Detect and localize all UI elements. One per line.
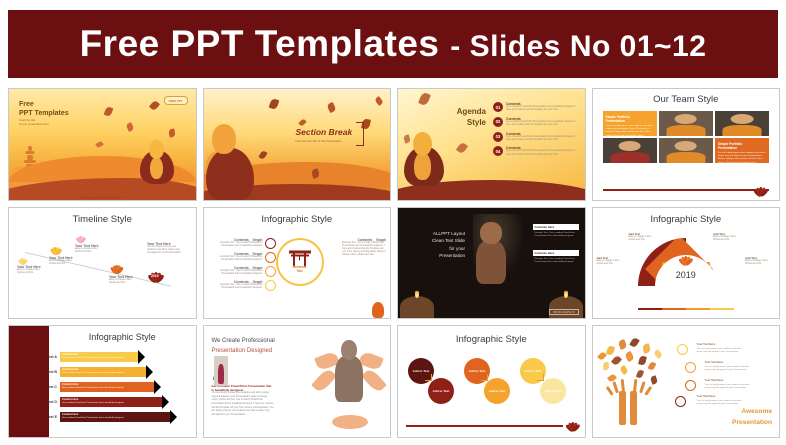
timeline-node-year: 2019: [151, 274, 159, 278]
infographic-list-item[interactable]: Contents _ Graph Example Text : Get a mo…: [212, 238, 276, 249]
slide-title: Infographic Style: [398, 334, 585, 345]
step-node-icon: [675, 396, 686, 407]
cover-title-line1: Free: [19, 101, 69, 110]
bullet-icon: [265, 238, 276, 249]
center-circle-label: Contents Title: [293, 267, 307, 275]
arrow-bar: Content Here Get a modern PowerPoint Pre…: [60, 412, 170, 422]
monk-figure-icon: [372, 302, 384, 318]
node-body: You can simply impress your audience and…: [705, 384, 751, 390]
agenda-item-list: 01 Contents Get a modern PowerPoint Pres…: [493, 102, 581, 161]
leaf-icon: [104, 106, 114, 117]
lotus-icon: [753, 185, 769, 196]
bullet-icon: [265, 266, 276, 277]
team-photo[interactable]: [659, 138, 713, 163]
circle-label: Add to Text: [525, 369, 542, 373]
callout-body: Easy to change colors, photos and Text.: [745, 260, 775, 266]
gauge-callout[interactable]: Add Text Easy to change colors, photos a…: [745, 256, 775, 266]
buddha-statue-image: [332, 340, 366, 402]
team-photo[interactable]: [715, 111, 769, 136]
arrow-row[interactable]: Text C Content Here Get a modern PowerPo…: [31, 382, 154, 392]
infographic-list-item[interactable]: Contents _ Graph Example Text : Get a mo…: [212, 266, 276, 277]
buddha-statue-image: [474, 222, 508, 284]
body-text: You can simply impress your audience and…: [212, 392, 274, 417]
awesome-title-line1: Awesome: [741, 408, 772, 415]
agenda-item-body: Get a modern PowerPoint Presentation tha…: [506, 136, 581, 142]
bracket-decoration: [356, 122, 364, 146]
portfolio-card-heading: Simple Portfolio Presentation: [718, 142, 766, 151]
portfolio-card[interactable]: Simple Portfolio Presentation You can si…: [603, 111, 657, 136]
arrow-label: Text E: [31, 415, 57, 419]
node-heading: Your Text Here: [697, 395, 716, 398]
gauge-callout[interactable]: Add Text Easy to change colors, photos a…: [597, 256, 627, 266]
agenda-item[interactable]: 02 Contents Get a modern PowerPoint Pres…: [493, 117, 581, 127]
node-heading: Your Text Here: [697, 343, 716, 346]
candle-icon: [400, 296, 434, 318]
infographic-right-item[interactable]: Contents _ Graph Example Text : Get a mo…: [342, 238, 386, 258]
agenda-item-number: 02: [493, 117, 503, 127]
item-body: Example Text : Get a modern PowerPoint P…: [212, 270, 263, 276]
slide-title: Infographic Style: [593, 214, 780, 225]
timeline-node[interactable]: Your Text Here Easy to change colors, ph…: [109, 264, 135, 285]
timeline-node[interactable]: Your Text Here Easy to change colors, ph…: [17, 256, 43, 275]
agenda-item-number: 03: [493, 132, 503, 142]
leaf-icon: [126, 122, 135, 132]
portfolio-heading-line2: Presentation: [606, 119, 625, 123]
callout-body: Easy to change colors, photos and Text.: [629, 236, 659, 242]
lotus-icon: [49, 246, 62, 255]
arrow-heading: Content Here: [62, 413, 78, 416]
leaf-icon: [326, 102, 336, 113]
circle-label: Add to Text: [413, 369, 430, 373]
cover-title-line2: PPT Templates: [19, 110, 69, 119]
arrow-heading: Content Here: [62, 383, 78, 386]
node-heading: Your Text Here: [705, 379, 724, 382]
bracket-decoration: [537, 374, 544, 381]
agenda-title: Agenda Style: [438, 107, 486, 129]
section-break-subtitle: Insert the Sub Title of Your Presentatio…: [296, 140, 342, 143]
agenda-item[interactable]: 01 Contents Get a modern PowerPoint Pres…: [493, 102, 581, 112]
arrow-label: Text B: [31, 370, 57, 374]
lotus-icon: [75, 235, 86, 243]
timeline-node-body: Easy to change colors, photos and Text.: [17, 269, 43, 275]
arrow-heading: Content Here: [62, 353, 78, 356]
gauge-callout[interactable]: Add Text Easy to change colors, photos a…: [713, 232, 743, 242]
lotus-icon: [565, 420, 581, 431]
arrow-body: Get a modern PowerPoint Presentation tha…: [62, 387, 124, 389]
item-body: Example Text : Get a modern PowerPoint P…: [212, 242, 263, 248]
cover-footer-url: www.free-powerpoint-templates-design.com: [81, 197, 124, 199]
slide-thumbnail-timeline[interactable]: Timeline Style Your Text Here Easy to ch…: [8, 207, 197, 320]
leaf-icon: [149, 100, 160, 111]
infographic-list-item[interactable]: Contents _ Graph Example Text : Get a mo…: [212, 252, 276, 263]
slide-title: Timeline Style: [9, 214, 196, 225]
title-line1: ALLPPT Layout: [407, 230, 465, 238]
slide-thumbnail-infographic-arrows[interactable]: Infographic Style Text A Content Here Ge…: [8, 325, 197, 438]
center-label-line2: Title: [296, 269, 303, 273]
team-photo[interactable]: [603, 138, 657, 163]
arrow-bar: Content Here Get a modern PowerPoint Pre…: [60, 367, 146, 377]
agenda-item-body: Get a modern PowerPoint Presentation tha…: [506, 150, 581, 156]
lotus-icon: [109, 264, 124, 274]
slide-thumbnail-we-create[interactable]: We Create Professional Presentation Desi…: [203, 325, 392, 438]
arrow-body: Get a modern PowerPoint Presentation tha…: [62, 402, 124, 404]
slide-thumbnail-infographic-circles[interactable]: Infographic Style Add to Text Add to Tex…: [397, 325, 586, 438]
timeline-node-body: Easy to change colors, photos and Text.: [75, 248, 101, 254]
arrow-row[interactable]: Text A Content Here Get a modern PowerPo…: [31, 352, 138, 362]
monk-silhouette: [140, 140, 174, 184]
arrow-row[interactable]: Text E Content Here Get a modern PowerPo…: [31, 412, 170, 422]
contents-box-body: Example Text : Get a modern PowerPoint P…: [533, 256, 579, 265]
contents-box[interactable]: Contents Here Example Text : Get a moder…: [533, 224, 579, 240]
slide-title: Infographic Style: [49, 332, 196, 342]
header-banner: Free PPT Templates - Slides No 01~12: [8, 10, 778, 78]
timeline-node-body: Easy to change colors, photos and Text.: [49, 260, 75, 266]
arrow-label: Text A: [31, 355, 57, 359]
circle-node[interactable]: Add to Text: [428, 378, 454, 404]
timeline-node[interactable]: Your Text Here Easy to change colors, ph…: [49, 246, 75, 266]
leaf-icon: [456, 142, 468, 155]
bracket-decoration: [425, 374, 432, 381]
contents-box-heading: Contents Here: [533, 224, 579, 231]
portfolio-card[interactable]: Simple Portfolio Presentation You can si…: [715, 138, 769, 163]
slide-thumbnail-infographic-gauge[interactable]: Infographic Style Add Contents Add Conte…: [592, 207, 781, 320]
arrow-row[interactable]: Text B Content Here Get a modern PowerPo…: [31, 367, 146, 377]
slide-thumbnail-awesome-presentation[interactable]: Your Text Here You can simply impress yo…: [592, 325, 781, 438]
gauge-callout[interactable]: Add Text Easy to change colors, photos a…: [629, 232, 659, 242]
flame-icon: [564, 289, 568, 298]
cover-subtitle: Insert the title of your presentation he…: [19, 119, 49, 127]
node-body: You can simply impress your audience and…: [705, 366, 751, 372]
page-title: Free PPT Templates - Slides No 01~12: [80, 23, 707, 65]
leaf-icon: [374, 96, 384, 106]
step-node-icon: [677, 344, 688, 355]
arrow-body: Get a modern PowerPoint Presentation tha…: [62, 372, 124, 374]
lotus-icon: [678, 254, 694, 265]
portfolio-heading-line2: Presentation: [718, 146, 737, 150]
agenda-item[interactable]: 03 Contents Get a modern PowerPoint Pres…: [493, 132, 581, 142]
infographic-badge: INFOGRAPHIC: [549, 309, 578, 316]
slide-grid: Free PPT Templates Insert the title of y…: [8, 88, 780, 438]
arrow-heading: Content Here: [62, 368, 78, 371]
agenda-item-body: Get a modern PowerPoint Presentation tha…: [506, 106, 581, 112]
bullet-icon: [265, 280, 276, 291]
slide-thumbnail-agenda[interactable]: Agenda Style 01 Contents Get a modern Po…: [397, 88, 586, 201]
infographic-list-item[interactable]: Contents _ Graph Example Text : Get a mo…: [212, 280, 276, 291]
step-node-icon: [685, 362, 696, 373]
contents-box-body: Example Text : Get a modern PowerPoint P…: [533, 230, 579, 239]
arrow-label: Text D: [31, 400, 57, 404]
contents-box[interactable]: Contents Here Example Text : Get a moder…: [533, 250, 579, 266]
slide-title: Our Team Style: [593, 94, 780, 105]
arrow-bar: Content Here Get a modern PowerPoint Pre…: [60, 352, 138, 362]
agenda-title-line1: Agenda: [438, 107, 486, 118]
item-body: Example Text : Get a modern PowerPoint P…: [342, 242, 386, 258]
agenda-item-number: 01: [493, 102, 503, 112]
timeline-node[interactable]: Your Text Here Easy to change colors, ph…: [75, 235, 101, 254]
node-heading: Your Text Here: [705, 361, 724, 364]
headline-line2: Presentation Designed: [212, 348, 273, 354]
gauge-year-label: 2019: [676, 270, 696, 280]
title-line3: for your: [407, 245, 465, 253]
leaf-icon: [258, 150, 267, 160]
arrow-label: Text C: [31, 385, 57, 389]
section-break-title: Section Break: [296, 127, 353, 137]
arrow-bar: Content Here Get a modern PowerPoint Pre…: [60, 382, 154, 392]
leaf-icon: [418, 92, 431, 106]
circle-label: Add to Text: [433, 389, 450, 393]
circle-label: Add to Text: [469, 369, 486, 373]
agenda-item-body: Get a modern PowerPoint Presentation tha…: [506, 121, 581, 127]
bracket-decoration: [481, 374, 488, 381]
headline-line1: We Create Professional: [212, 338, 275, 344]
agenda-item[interactable]: 04 Contents Get a modern PowerPoint Pres…: [493, 146, 581, 156]
item-body: Example Text : Get a modern PowerPoint P…: [212, 256, 263, 262]
leaf-icon: [168, 129, 175, 138]
center-circle: Contents Title: [276, 238, 324, 286]
portfolio-card-heading: Simple Portfolio Presentation: [606, 115, 654, 124]
ppt-template-preview-sheet: Free PPT Templates - Slides No 01~12: [0, 0, 786, 445]
slide-thumbnail-our-team[interactable]: Our Team Style Simple Portfolio Presenta…: [592, 88, 781, 201]
header-title-main: Free PPT Templates: [80, 23, 440, 64]
slide-thumbnail-cover[interactable]: Free PPT Templates Insert the title of y…: [8, 88, 197, 201]
node-body: You can simply impress your audience and…: [697, 348, 743, 354]
header-title-sub: - Slides No 01~12: [450, 30, 706, 63]
arrow-bar: Content Here Get a modern PowerPoint Pre…: [60, 397, 162, 407]
bullet-icon: [265, 252, 276, 263]
seated-monk-silhouette: [206, 120, 254, 200]
node-body: You can simply impress your audience and…: [697, 400, 743, 406]
title-line4: Presentation: [407, 252, 465, 260]
contents-box-heading: Contents Here: [533, 250, 579, 257]
team-card-grid: Simple Portfolio Presentation You can si…: [603, 111, 770, 163]
awesome-title-line2: Presentation: [732, 419, 772, 426]
step-node-icon: [685, 380, 696, 391]
timeline-node-body: Easy to change colors, photos and Text.: [109, 279, 135, 285]
timeline-node-body: You can simply impress your audience and…: [147, 246, 183, 256]
callout-body: Easy to change colors, photos and Text.: [597, 260, 627, 266]
divider-bar: [406, 425, 563, 427]
divider-bar: [603, 189, 770, 191]
timeline-node[interactable]: 2019: [147, 270, 165, 282]
lotus-petal: [332, 415, 368, 429]
portfolio-card-body: You can simply impress your audience and…: [606, 125, 654, 136]
slide-title: Infographic Style: [204, 214, 391, 225]
callout-body: Easy to change colors, photos and Text.: [713, 236, 743, 242]
circle-label: Add to Text: [545, 389, 562, 393]
dark-slide-title: ALLPPT Layout Clean Text Slide for your …: [407, 230, 465, 260]
lotus-icon: [17, 256, 27, 264]
item-body: Example Text : Get a modern PowerPoint P…: [212, 284, 263, 290]
flame-icon: [415, 289, 419, 298]
timeline-node-caption: Your Text Here You can simply impress yo…: [147, 242, 183, 256]
portfolio-card-body: You can simply impress your audience and…: [718, 152, 766, 163]
leaf-icon: [268, 98, 279, 110]
leaf-icon: [298, 118, 306, 127]
arrow-body: Get a modern PowerPoint Presentation tha…: [62, 357, 124, 359]
slide-thumbnail-section-break[interactable]: Section Break Insert the Sub Title of Yo…: [203, 88, 392, 201]
circle-label: Add to Text: [489, 389, 506, 393]
title-line2: Clean Text Slide: [407, 237, 465, 245]
circle-node[interactable]: Add to Text: [540, 378, 566, 404]
arrow-row[interactable]: Text D Content Here Get a modern PowerPo…: [31, 397, 162, 407]
cover-subtitle-line2: of your presentation here: [19, 123, 49, 127]
circle-node[interactable]: Add to Text: [484, 378, 510, 404]
gauge-base-bar: [638, 308, 734, 310]
slide-thumbnail-infographic-torii[interactable]: Infographic Style Contents Title Content…: [203, 207, 392, 320]
monk-figure-icon: [218, 364, 224, 384]
slide-thumbnail-allppt-dark[interactable]: ALLPPT Layout Clean Text Slide for your …: [397, 207, 586, 320]
agenda-item-number: 04: [493, 146, 503, 156]
torii-gate-icon: [289, 250, 311, 267]
arrow-heading: Content Here: [62, 398, 78, 401]
agenda-title-line2: Style: [438, 118, 486, 129]
free-ppt-badge: FREE PPT: [164, 96, 188, 105]
team-photo[interactable]: [659, 111, 713, 136]
arrow-body: Get a modern PowerPoint Presentation tha…: [62, 417, 124, 419]
cover-title: Free PPT Templates: [19, 101, 69, 119]
